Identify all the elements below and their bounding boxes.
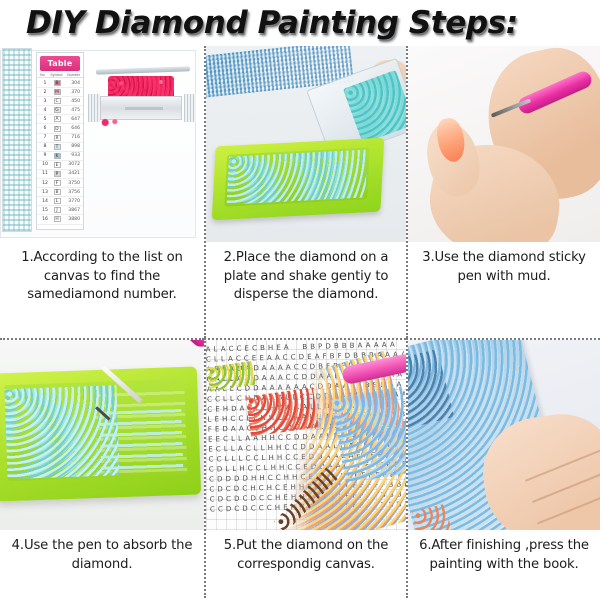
bag-stripe-right [184, 94, 196, 122]
step-4-caption: 4.Use the pen to absorb the diamond. [0, 530, 204, 598]
step-5-image: ALACCECBHEA BBPDBBBAAAAA CLLACCEEAACCDEA… [206, 340, 406, 530]
color-table-header-row: No. Symbol Number [37, 73, 83, 78]
table-row: 8 T 898 [37, 143, 83, 152]
step-card-2: 2.Place the diamond on a plate and shake… [204, 46, 406, 338]
step-1-caption: 1.According to the list on canvas to fin… [0, 242, 204, 338]
steps-grid: Table No. Symbol Number 1 B 304 2 M 3 [0, 46, 600, 598]
painting-orange-area [412, 504, 452, 530]
table-row: 2 M 370 [37, 88, 83, 97]
row-no: 4 [40, 108, 50, 113]
aligned-diamonds [99, 409, 184, 470]
row-symbol: B [50, 80, 64, 86]
row-number: 716 [64, 135, 80, 140]
row-no: 8 [40, 144, 50, 149]
row-symbol: H [50, 216, 64, 222]
step-2-caption: 2.Place the diamond on a plate and shake… [206, 242, 406, 338]
table-row: 3 C 450 [37, 97, 83, 106]
row-no: 14 [40, 199, 50, 204]
row-symbol: C [50, 98, 64, 104]
row-symbol: R [50, 135, 64, 141]
table-row: 10 E 3072 [37, 161, 83, 170]
table-row: 1 B 304 [37, 79, 83, 88]
green-tray [212, 138, 385, 221]
row-symbol: L [50, 198, 64, 204]
table-row: 7 R 716 [37, 134, 83, 143]
row-number: 3421 [64, 171, 80, 176]
row-symbol: P [50, 171, 64, 177]
step-1-image: Table No. Symbol Number 1 B 304 2 M 3 [0, 46, 204, 242]
row-number: 370 [64, 90, 80, 95]
row-symbol: G [50, 107, 64, 113]
table-row: 4 G 475 [37, 106, 83, 115]
step-card-6: 6.After finishing ,press the painting wi… [406, 338, 600, 598]
table-row: 15 J 3867 [37, 206, 83, 215]
row-no: 11 [40, 171, 50, 176]
step-6-image [408, 340, 600, 530]
row-symbol: F [50, 180, 64, 186]
row-symbol: E [50, 162, 64, 168]
row-symbol: A [50, 116, 64, 122]
row-no: 9 [40, 153, 50, 158]
step-3-caption: 3.Use the diamond sticky pen with mud. [408, 242, 600, 338]
row-no: 5 [40, 117, 50, 122]
row-number: 3770 [64, 199, 80, 204]
step-card-5: ALACCECBHEA BBPDBBBAAAAA CLLACCEEAACCDEA… [204, 338, 406, 598]
step-3-image [408, 46, 600, 242]
row-no: 16 [40, 217, 50, 222]
row-number: 3750 [64, 181, 80, 186]
step-5-caption: 5.Put the diamond on the correspondig ca… [206, 530, 406, 598]
row-symbol: T [50, 144, 64, 150]
table-row: 14 L 3770 [37, 197, 83, 206]
cyan-diamonds-in-tray [227, 149, 368, 204]
row-symbol: D [50, 126, 64, 132]
table-row: 5 A 647 [37, 115, 83, 124]
row-number: 647 [64, 117, 80, 122]
table-row: 11 P 3421 [37, 170, 83, 179]
table-row: 9 K 933 [37, 152, 83, 161]
row-number: 933 [64, 153, 80, 158]
title-bar: DIY Diamond Painting Steps: [0, 0, 600, 46]
row-number: 898 [64, 144, 80, 149]
col-no: No. [40, 73, 46, 77]
color-table: Table No. Symbol Number 1 B 304 2 M 3 [36, 52, 84, 230]
painting-dark-area [408, 349, 454, 431]
row-no: 12 [40, 181, 50, 186]
finger-line [525, 448, 600, 482]
step-card-4: 4.Use the pen to absorb the diamond. [0, 338, 204, 598]
row-number: 304 [64, 81, 80, 86]
row-no: 15 [40, 208, 50, 213]
table-row: 13 B 3756 [37, 188, 83, 197]
row-number: 450 [64, 99, 80, 104]
step-card-1: Table No. Symbol Number 1 B 304 2 M 3 [0, 46, 204, 338]
row-number: 3756 [64, 190, 80, 195]
bag-label [100, 96, 182, 120]
tray-inner [224, 147, 369, 206]
step-6-caption: 6.After finishing ,press the painting wi… [408, 530, 600, 598]
row-symbol: M [50, 89, 64, 95]
row-symbol: J [50, 207, 64, 213]
green-tray [0, 366, 201, 501]
row-number: 646 [64, 126, 80, 131]
row-no: 3 [40, 99, 50, 104]
row-number: 475 [64, 108, 80, 113]
step-2-image [206, 46, 406, 242]
row-number: 3072 [64, 162, 80, 167]
diamond-bag [92, 62, 192, 128]
cyan-diamonds-in-bag [343, 70, 406, 144]
row-no: 7 [40, 135, 50, 140]
table-row: 12 F 3750 [37, 179, 83, 188]
col-symbol: Symbol [50, 73, 62, 77]
row-symbol: K [50, 153, 64, 159]
color-table-title: Table [40, 56, 80, 71]
canvas-symbol-column [2, 48, 32, 232]
table-row: 6 D 646 [37, 124, 83, 133]
row-number: 3867 [64, 208, 80, 213]
tray-floor [4, 379, 187, 481]
row-no: 1 [40, 81, 50, 86]
bag-clip [96, 66, 190, 74]
step-card-3: 3.Use the diamond sticky pen with mud. [406, 46, 600, 338]
row-no: 2 [40, 90, 50, 95]
row-number: 3880 [64, 217, 80, 222]
row-no: 6 [40, 126, 50, 131]
col-number: Number [67, 73, 80, 77]
diy-diamond-painting-infographic: DIY Diamond Painting Steps: Table No. Sy… [0, 0, 600, 598]
row-symbol: B [50, 189, 64, 195]
spilled-diamonds [98, 118, 122, 127]
row-no: 13 [40, 190, 50, 195]
table-row: 16 H 3880 [37, 215, 83, 224]
page-title: DIY Diamond Painting Steps: [26, 5, 518, 41]
step-4-image [0, 340, 204, 530]
row-no: 10 [40, 162, 50, 167]
